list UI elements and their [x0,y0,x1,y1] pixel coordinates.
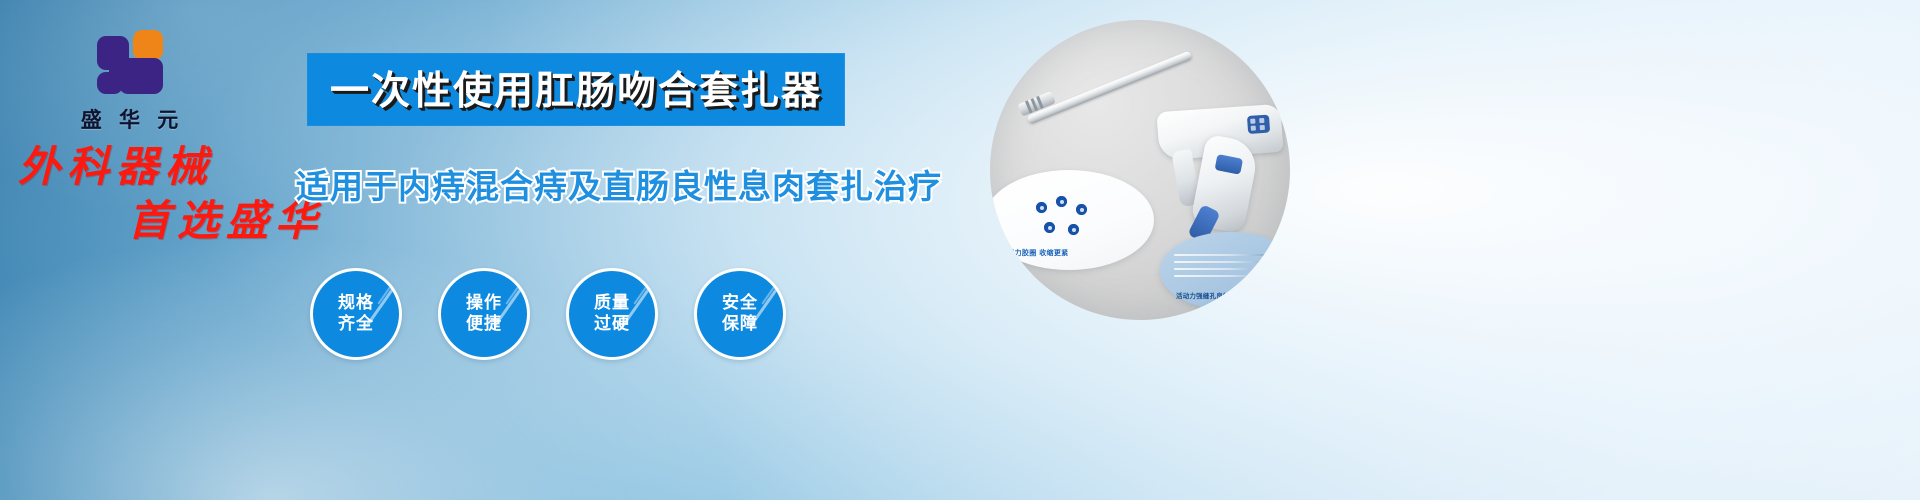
device-button-pad-icon [1247,115,1270,134]
device-blue-button [1215,154,1244,175]
feature-label-line2: 保障 [722,314,758,335]
feature-circle-list: 规格 齐全 操作 便捷 质量 过硬 安全 保障 [310,268,786,360]
feature-label-line1: 安全 [722,293,758,314]
rubber-ring-dot [1076,204,1087,215]
feature-label-line1: 规格 [338,293,374,314]
feature-circle-1[interactable]: 规格 齐全 [310,268,402,360]
rubber-rings-inset: 高弹力胶圈 收缩更紧 [990,170,1154,270]
gloss-streak-icon [633,276,654,305]
product-photo: 高弹力胶圈 收缩更紧 活动力强缝孔良好效果 [990,20,1290,320]
feature-circle-3[interactable]: 质量 过硬 [566,268,658,360]
gloss-streak-icon [761,276,782,305]
feature-label-line1: 质量 [594,293,630,314]
logo-connector-bar [109,64,135,76]
needle [1174,275,1268,277]
needle [1174,268,1264,270]
brush-slogan: 外科器械 首选盛华 [18,146,324,242]
slogan-line-1: 外科器械 [18,142,214,191]
page-title: 一次性使用肛肠吻合套扎器 [330,60,822,116]
gloss-streak-icon [505,276,526,305]
needle [1174,254,1266,256]
feature-label-line2: 便捷 [466,314,502,335]
promo-banner: 盛 华 元 外科器械 首选盛华 一次性使用肛肠吻合套扎器 适用于内痔混合痔及直肠… [0,0,1920,500]
logo-square-2 [133,30,163,60]
feature-label-line2: 齐全 [338,314,374,335]
brand-logo[interactable]: 盛 华 元 [62,28,202,134]
feature-circle-4[interactable]: 安全 保障 [694,268,786,360]
feature-label-line1: 操作 [466,293,502,314]
rubber-ring-dot [1056,196,1067,207]
needle [1174,261,1270,263]
logo-blocks-icon [97,28,167,98]
rubber-ring-dot [1036,202,1047,213]
slogan-line-2: 首选盛华 [128,200,324,242]
rubber-ring-dot [1044,222,1055,233]
rubber-ring-dot [1068,224,1079,235]
rubber-rings-caption: 高弹力胶圈 收缩更紧 [1000,248,1068,258]
subtitle: 适用于内痔混合痔及直肠良性息肉套扎治疗 [296,160,942,208]
gloss-streak-icon [377,276,398,305]
feature-label-line2: 过硬 [594,314,630,335]
brand-name: 盛 华 元 [62,104,202,134]
feature-circle-2[interactable]: 操作 便捷 [438,268,530,360]
headline-band: 一次性使用肛肠吻合套扎器 [308,54,844,125]
